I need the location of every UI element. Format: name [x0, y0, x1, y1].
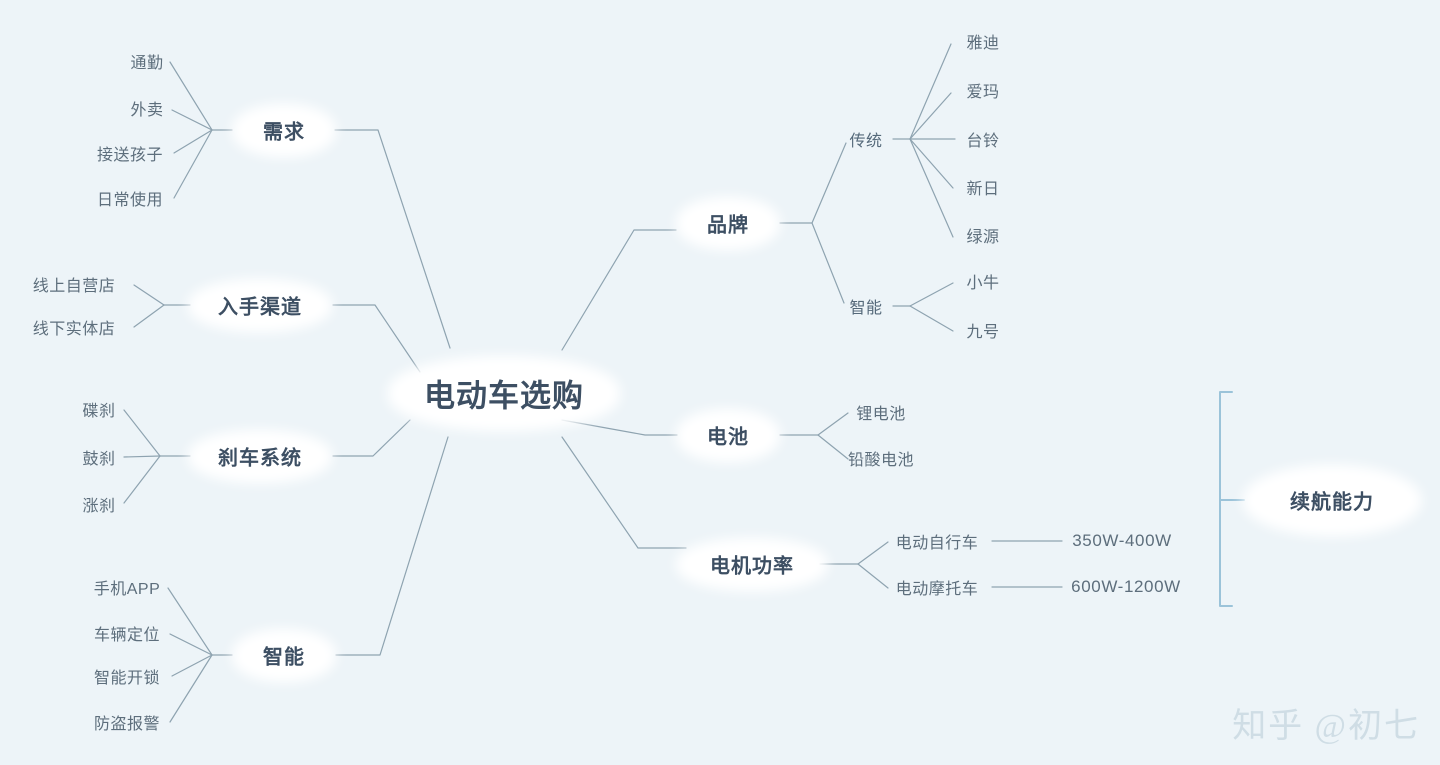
branch-node-label: 品牌 [707, 209, 749, 238]
branch-node-motor-power[interactable]: 电机功率 [710, 550, 794, 579]
value-label: 350W-400W [1072, 531, 1172, 550]
watermark: 知乎 @初七 [1232, 698, 1420, 747]
leaf-label: 小牛 [966, 275, 999, 292]
link-traditional-leaf-1 [910, 93, 951, 139]
branch-node-label: 续航能力 [1290, 486, 1374, 515]
leaf-brand-traditional-2[interactable]: 台铃 [966, 127, 999, 151]
leaf-label: 防盗报警 [94, 716, 160, 733]
leaf-motor-power-1[interactable]: 电动摩托车 [896, 575, 979, 599]
link-smart-leaf-3 [170, 655, 212, 722]
link-brand-smart-leaf-0 [910, 283, 953, 306]
leaf-label: 绿源 [966, 229, 999, 246]
subgroup-brand-traditional[interactable]: 传统 [849, 127, 882, 151]
branch-node-label: 需求 [263, 116, 305, 145]
link-smart-leaf-2 [172, 655, 212, 676]
branch-node-label: 电池 [707, 421, 749, 450]
leaf-label: 台铃 [966, 133, 999, 150]
branch-node-brake-system[interactable]: 刹车系统 [218, 442, 302, 471]
subgroup-label: 智能 [849, 300, 882, 317]
leaf-label: 电动摩托车 [896, 581, 979, 598]
mindmap-canvas: 电动车选购 需求 通勤 外卖 接送孩子 日常使用 入手渠道 线上自营店 线下实体… [0, 0, 1440, 765]
leaf-motor-power-0[interactable]: 电动自行车 [896, 529, 979, 553]
link-center-purchase-channel [333, 305, 420, 372]
branch-node-range-capability[interactable]: 续航能力 [1290, 486, 1374, 515]
link-battery-leaf-0 [818, 413, 848, 435]
branch-node-label: 电机功率 [710, 550, 794, 579]
leaf-label: 涨刹 [82, 498, 115, 515]
leaf-label: 接送孩子 [97, 147, 163, 164]
leaf-brand-smart-1[interactable]: 九号 [966, 318, 999, 342]
branch-node-label: 刹车系统 [218, 442, 302, 471]
center-node-label: 电动车选购 [424, 371, 584, 416]
leaf-brake-system-2[interactable]: 涨刹 [82, 492, 115, 516]
leaf-label: 车辆定位 [94, 627, 160, 644]
leaf-brand-traditional-1[interactable]: 爱玛 [966, 78, 999, 102]
leaf-smart-1[interactable]: 车辆定位 [94, 621, 160, 645]
leaf-label: 铅酸电池 [848, 452, 914, 469]
link-center-demand [335, 130, 450, 348]
branch-node-battery[interactable]: 电池 [707, 421, 749, 450]
subgroup-label: 传统 [849, 133, 882, 150]
leaf-label: 通勤 [130, 55, 163, 72]
link-brake-leaf-0 [124, 410, 160, 456]
leaf-brake-system-0[interactable]: 碟刹 [82, 397, 115, 421]
leaf-smart-2[interactable]: 智能开锁 [94, 664, 160, 688]
leaf-label: 线下实体店 [33, 321, 116, 338]
leaf-label: 鼓刹 [82, 451, 115, 468]
link-smart-leaf-0 [168, 588, 212, 655]
link-center-brake-system [333, 420, 410, 456]
link-purchase-leaf-1 [134, 305, 164, 327]
leaf-brand-traditional-4[interactable]: 绿源 [966, 223, 999, 247]
branch-node-brand[interactable]: 品牌 [707, 209, 749, 238]
link-brake-leaf-2 [124, 456, 160, 503]
link-battery-leaf-1 [818, 435, 848, 459]
link-center-smart [336, 437, 448, 655]
branch-node-purchase-channel[interactable]: 入手渠道 [218, 291, 302, 320]
leaf-label: 九号 [966, 324, 999, 341]
range-bracket [1220, 392, 1232, 606]
subgroup-brand-smart[interactable]: 智能 [849, 294, 882, 318]
link-brand-group-1 [812, 223, 844, 303]
link-brake-leaf-1 [124, 456, 160, 457]
link-brand-group-0 [780, 143, 846, 223]
center-node[interactable]: 电动车选购 [424, 371, 584, 416]
leaf-label: 锂电池 [856, 406, 906, 423]
leaf-brand-traditional-3[interactable]: 新日 [966, 175, 999, 199]
leaf-brake-system-1[interactable]: 鼓刹 [82, 445, 115, 469]
leaf-label: 线上自营店 [33, 278, 116, 295]
value-label: 600W-1200W [1071, 577, 1181, 596]
link-brand-smart-leaf-1 [910, 306, 953, 331]
value-motor-power-1[interactable]: 600W-1200W [1071, 577, 1181, 597]
leaf-label: 爱玛 [966, 84, 999, 101]
branch-node-demand[interactable]: 需求 [263, 116, 305, 145]
link-center-brand [562, 230, 676, 350]
leaf-battery-0[interactable]: 锂电池 [856, 400, 906, 424]
leaf-smart-0[interactable]: 手机APP [94, 575, 161, 599]
link-traditional-leaf-3 [910, 139, 953, 188]
leaf-label: 智能开锁 [94, 670, 160, 687]
link-demand-leaf-1 [172, 110, 212, 130]
link-demand-leaf-2 [174, 130, 212, 153]
leaf-battery-1[interactable]: 铅酸电池 [848, 446, 914, 470]
branch-node-label: 入手渠道 [218, 291, 302, 320]
leaf-demand-3[interactable]: 日常使用 [97, 186, 163, 210]
link-center-motor-power [562, 437, 686, 548]
leaf-label: 电动自行车 [896, 535, 979, 552]
link-purchase-leaf-0 [134, 285, 164, 305]
leaf-demand-1[interactable]: 外卖 [130, 96, 163, 120]
leaf-label: 新日 [966, 181, 999, 198]
leaf-label: 日常使用 [97, 192, 163, 209]
leaf-label: 雅迪 [966, 35, 999, 52]
link-demand-leaf-0 [170, 62, 212, 130]
branch-node-smart[interactable]: 智能 [263, 641, 305, 670]
value-motor-power-0[interactable]: 350W-400W [1072, 531, 1172, 551]
leaf-smart-3[interactable]: 防盗报警 [94, 710, 160, 734]
link-motor-leaf-1 [858, 564, 888, 588]
branch-node-label: 智能 [263, 641, 305, 670]
leaf-label: 外卖 [130, 102, 163, 119]
link-smart-leaf-1 [170, 634, 212, 655]
leaf-brand-smart-0[interactable]: 小牛 [966, 269, 999, 293]
link-motor-leaf-0 [858, 542, 888, 564]
connector-lines [0, 0, 1440, 765]
leaf-purchase-channel-0[interactable]: 线上自营店 [33, 272, 116, 296]
leaf-label: 碟刹 [82, 403, 115, 420]
leaf-brand-traditional-0[interactable]: 雅迪 [966, 29, 999, 53]
leaf-purchase-channel-1[interactable]: 线下实体店 [33, 315, 116, 339]
link-traditional-leaf-0 [910, 44, 951, 139]
link-traditional-leaf-4 [910, 139, 953, 237]
leaf-label: 手机APP [94, 581, 161, 598]
leaf-demand-2[interactable]: 接送孩子 [97, 141, 163, 165]
leaf-demand-0[interactable]: 通勤 [130, 49, 163, 73]
link-demand-leaf-3 [174, 130, 212, 198]
